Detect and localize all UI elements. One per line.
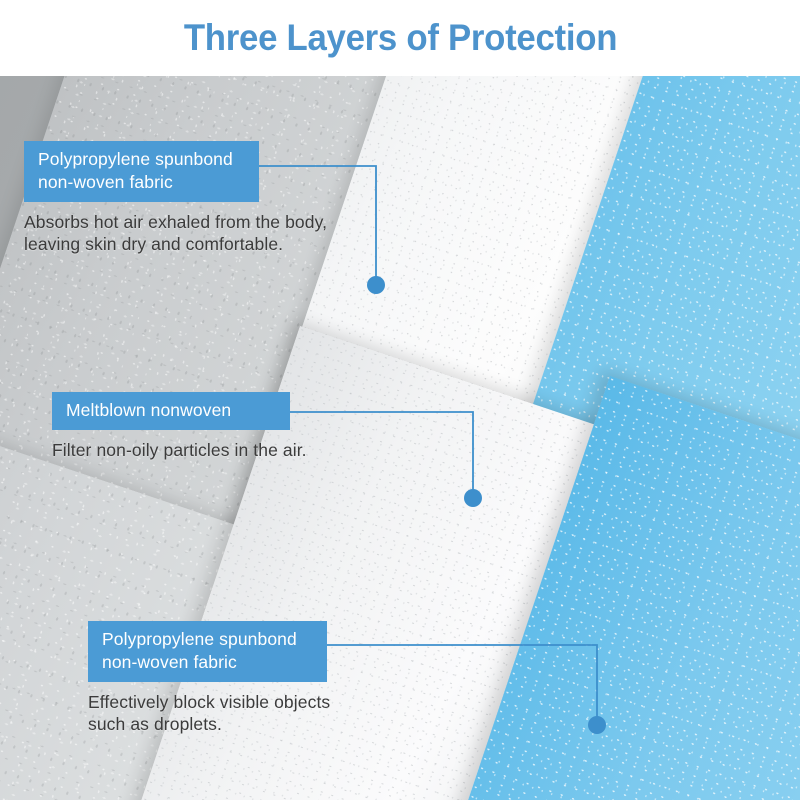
callout-description-meltblown: Filter non-oily particles in the air. — [52, 439, 307, 461]
header-bar: Three Layers of Protection — [0, 0, 800, 76]
callout-inner-spunbond: Polypropylene spunbond non-woven fabric … — [88, 621, 330, 735]
callout-description-outer-spunbond: Absorbs hot air exhaled from the body, l… — [24, 211, 327, 256]
callout-meltblown: Meltblown nonwoven Filter non-oily parti… — [52, 392, 307, 461]
callout-label-meltblown: Meltblown nonwoven — [52, 392, 290, 430]
infographic-page: Three Layers of Protection Polypropylene… — [0, 0, 800, 800]
callout-label-outer-spunbond: Polypropylene spunbond non-woven fabric — [24, 141, 259, 202]
callout-outer-spunbond: Polypropylene spunbond non-woven fabric … — [24, 141, 327, 255]
page-title: Three Layers of Protection — [183, 17, 616, 59]
callout-label-inner-spunbond: Polypropylene spunbond non-woven fabric — [88, 621, 327, 682]
callout-description-inner-spunbond: Effectively block visible objects such a… — [88, 691, 330, 736]
